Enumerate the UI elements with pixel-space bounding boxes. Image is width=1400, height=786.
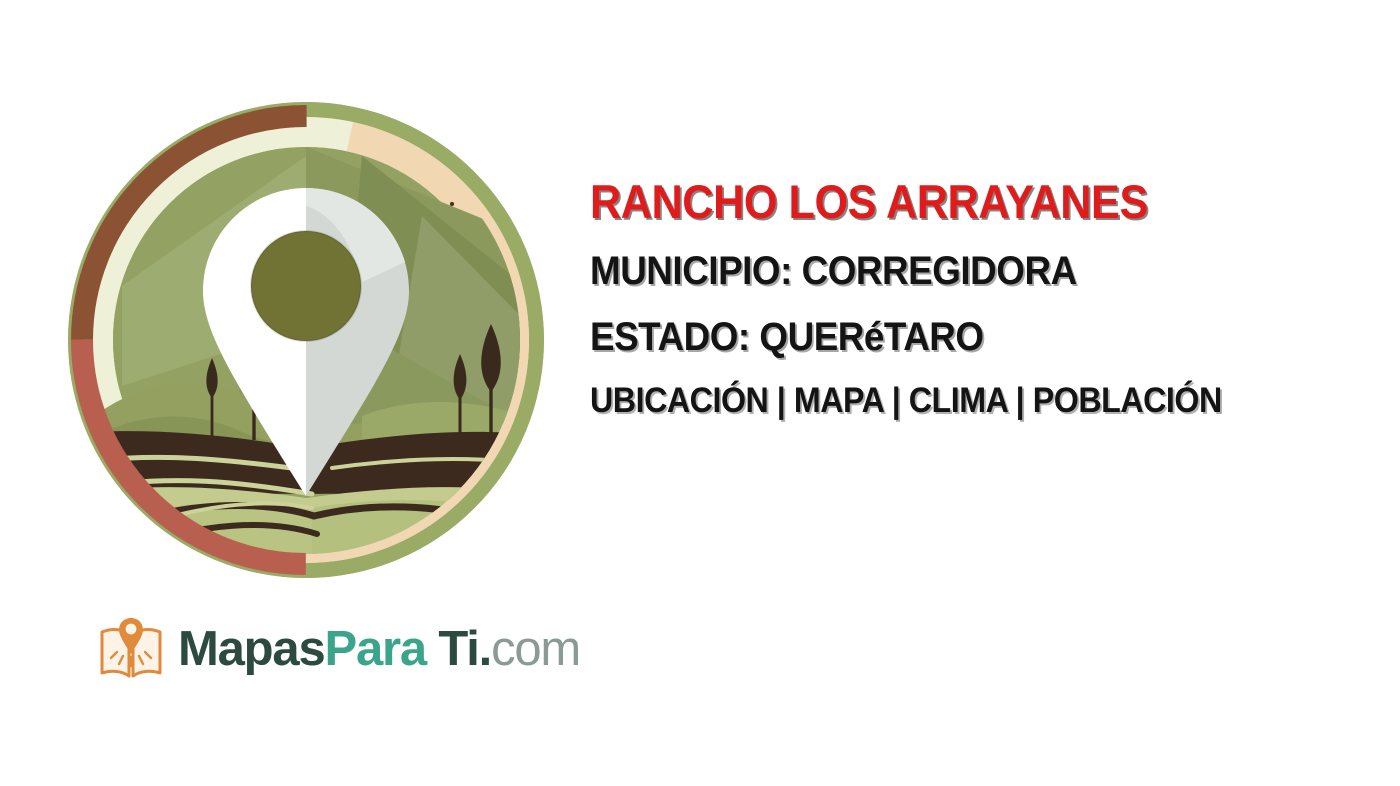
- municipality-label: MUNICIPIO: CORREGIDORA: [590, 251, 1326, 291]
- brand-logo[interactable]: MapasPara Ti.com: [98, 614, 580, 684]
- location-info-block: RANCHO LOS ARRAYANES MUNICIPIO: CORREGID…: [590, 178, 1390, 418]
- page-root: RANCHO LOS ARRAYANES MUNICIPIO: CORREGID…: [0, 0, 1400, 786]
- brand-wordmark: MapasPara Ti.com: [178, 625, 580, 674]
- brand-word-para: Para: [325, 622, 426, 676]
- brand-word-com: com: [491, 622, 580, 676]
- brand-word-ti: Ti.: [426, 622, 491, 676]
- brand-word-mapas: Mapas: [178, 622, 325, 676]
- page-title: RANCHO LOS ARRAYANES: [590, 178, 1326, 225]
- open-book-map-pin-icon: [98, 614, 164, 684]
- state-label: ESTADO: QUERéTARO: [590, 317, 1326, 357]
- section-links[interactable]: UBICACIÓN | MAPA | CLIMA | POBLACIÓN: [590, 383, 1326, 418]
- rural-landscape-map-pin-badge-icon: [62, 96, 550, 584]
